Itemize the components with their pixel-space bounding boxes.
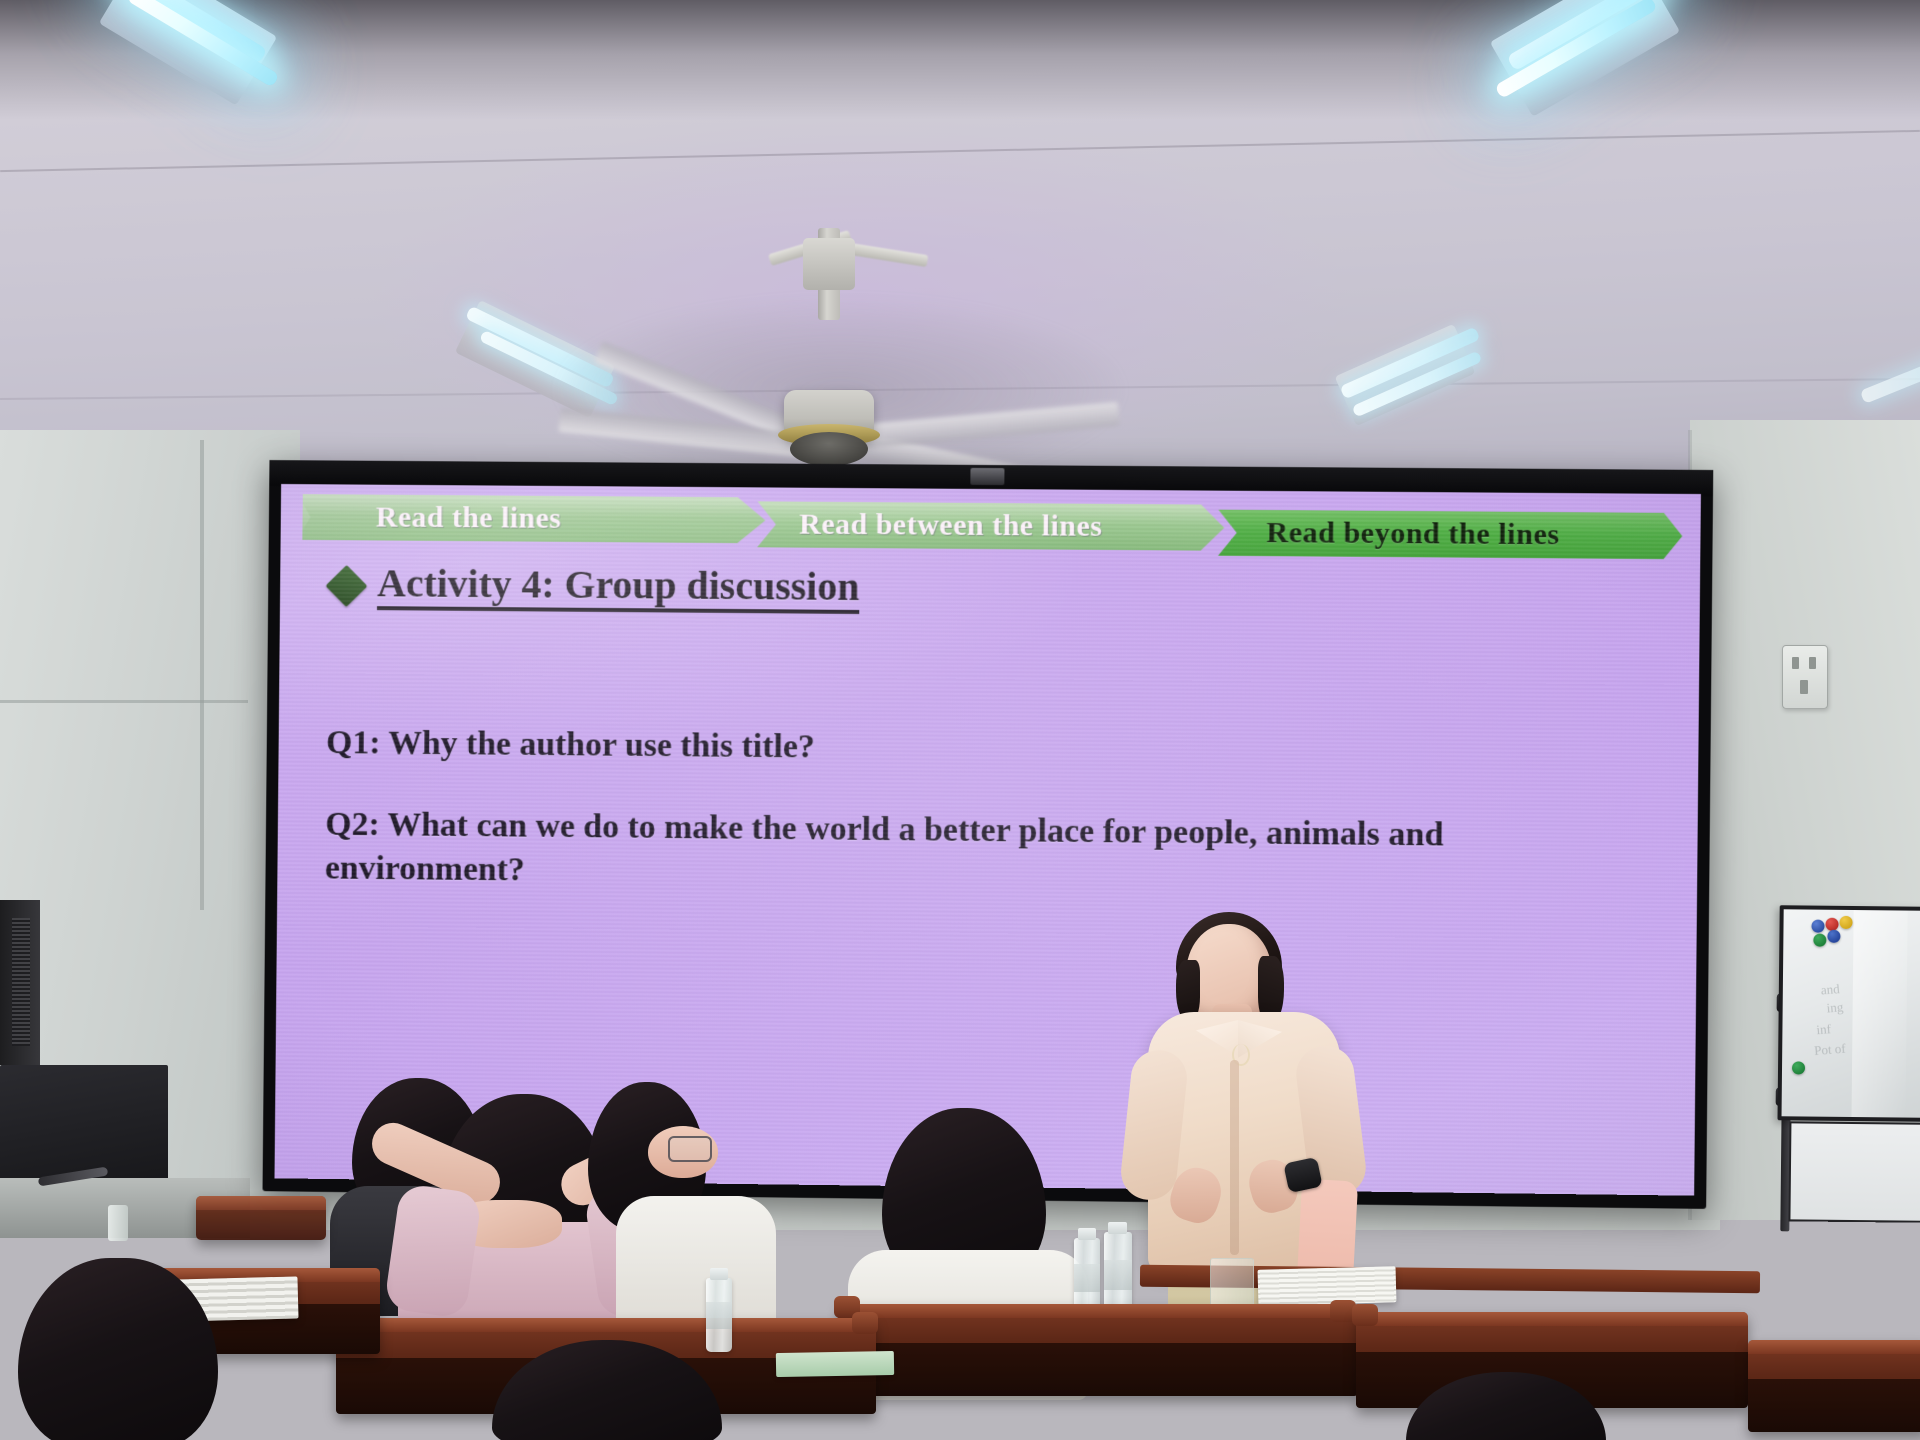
fan-hub — [790, 432, 868, 466]
bench-desk — [196, 1196, 326, 1240]
bench-desk — [838, 1304, 1358, 1396]
projection-screen: Read the lines Read between the lines Re… — [263, 460, 1714, 1209]
bottle-cap[interactable] — [1078, 1228, 1096, 1240]
whiteboard-scribble: ing — [1826, 999, 1844, 1016]
reading-stages-banner: Read the lines Read between the lines Re… — [302, 490, 1682, 558]
mobile-whiteboard[interactable]: and ing inf Pot of — [1766, 905, 1920, 1237]
banner-step-read-between-the-lines[interactable]: Read between the lines — [757, 501, 1224, 550]
teacher-button-placket — [1230, 1060, 1239, 1255]
speaker-grille — [12, 918, 30, 1046]
paper-stack[interactable] — [1258, 1266, 1397, 1306]
whiteboard-glare — [1852, 910, 1908, 1118]
magnet-blue[interactable] — [1827, 930, 1840, 943]
magnet-blue[interactable] — [1811, 920, 1824, 933]
classroom-scene: Read the lines Read between the lines Re… — [0, 0, 1920, 1440]
bench-desk — [1748, 1340, 1920, 1432]
whiteboard-surface[interactable]: and ing inf Pot of — [1782, 909, 1920, 1118]
bottle-cap[interactable] — [1108, 1222, 1127, 1234]
bench-end-cap — [1352, 1304, 1378, 1326]
activity-title: Activity 4: Group discussion — [377, 562, 860, 614]
wall-socket[interactable] — [1782, 645, 1828, 709]
bench-end-cap — [852, 1312, 878, 1334]
bottle-cap[interactable] — [710, 1268, 728, 1280]
magnet-yellow[interactable] — [1839, 916, 1852, 929]
activity-heading: Activity 4: Group discussion — [331, 562, 859, 614]
banner-step-read-the-lines[interactable]: Read the lines — [302, 494, 765, 543]
whiteboard-lower-panel — [1788, 1121, 1920, 1223]
banner-step-label: Read the lines — [376, 501, 562, 536]
whiteboard-frame: and ing inf Pot of — [1777, 905, 1920, 1122]
student-glasses — [668, 1136, 712, 1162]
fan-canopy — [803, 238, 855, 290]
wall-panel-line — [200, 440, 204, 910]
screen-mount-bracket — [970, 468, 1004, 485]
whiteboard-scribble: and — [1820, 981, 1840, 998]
wall-panel-line — [0, 700, 248, 703]
whiteboard-scribble: inf — [1816, 1021, 1832, 1038]
banner-step-read-beyond-the-lines[interactable]: Read beyond the lines — [1218, 510, 1683, 560]
magnet-green[interactable] — [1813, 934, 1826, 947]
notebook[interactable] — [776, 1351, 894, 1377]
banner-step-label: Read beyond the lines — [1266, 516, 1559, 552]
banner-step-label: Read between the lines — [799, 508, 1103, 544]
discussion-question-2: Q2: What can we do to make the world a b… — [325, 803, 1615, 904]
diamond-bullet-icon — [325, 565, 367, 607]
bottle[interactable] — [706, 1278, 732, 1352]
bottle[interactable] — [108, 1205, 128, 1241]
presentation-slide: Read the lines Read between the lines Re… — [274, 484, 1700, 1196]
whiteboard-scribble: Pot of — [1814, 1041, 1847, 1059]
magnet-green[interactable] — [1792, 1061, 1805, 1074]
control-monitor[interactable] — [0, 1065, 168, 1185]
discussion-question-1: Q1: Why the author use this title? — [326, 721, 815, 769]
